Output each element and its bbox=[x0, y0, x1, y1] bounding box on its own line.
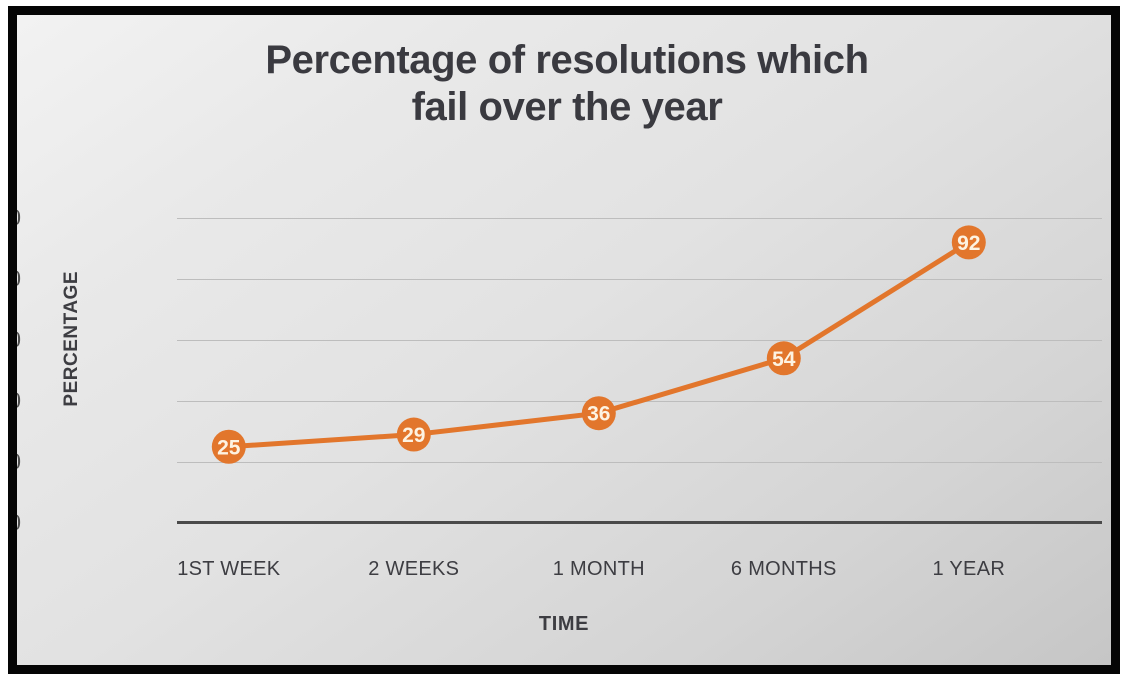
series-line bbox=[229, 242, 969, 446]
x-axis-tick-label: 1ST WEEK bbox=[177, 558, 280, 581]
y-axis-tick-label: 0 bbox=[17, 510, 21, 536]
data-point-label: 36 bbox=[587, 403, 610, 426]
chart-frame: Percentage of resolutions which fail ove… bbox=[8, 6, 1120, 674]
data-point-label: 92 bbox=[957, 232, 980, 255]
chart-canvas: Percentage of resolutions which fail ove… bbox=[17, 15, 1111, 665]
line-series: 2529365492 bbox=[177, 218, 1102, 523]
data-point-marker[interactable] bbox=[397, 418, 431, 452]
x-axis-title: TIME bbox=[17, 613, 1111, 636]
x-axis-tick-label: 1 YEAR bbox=[933, 558, 1006, 581]
data-point-label: 29 bbox=[402, 424, 425, 447]
chart-screenshot: Percentage of resolutions which fail ove… bbox=[0, 0, 1128, 682]
y-axis-tick-label: 100 bbox=[17, 205, 21, 231]
gridline bbox=[177, 279, 1102, 280]
y-axis-tick-label: 60 bbox=[17, 327, 21, 353]
chart-title-line-1: Percentage of resolutions which bbox=[87, 37, 1047, 84]
data-point-marker[interactable] bbox=[212, 430, 246, 464]
data-point-marker[interactable] bbox=[952, 225, 986, 259]
gridline bbox=[177, 462, 1102, 463]
plot-area: 2529365492 bbox=[177, 218, 1102, 523]
x-axis-line bbox=[177, 521, 1102, 524]
data-point-label: 54 bbox=[772, 348, 796, 371]
data-point-label: 25 bbox=[217, 436, 241, 459]
x-axis-tick-label: 1 MONTH bbox=[553, 558, 645, 581]
data-point-marker[interactable] bbox=[767, 341, 801, 375]
x-axis-tick-label: 6 MONTHS bbox=[731, 558, 837, 581]
gridline bbox=[177, 401, 1102, 402]
chart-title-line-2: fail over the year bbox=[87, 84, 1047, 131]
y-axis-title: PERCENTAGE bbox=[61, 271, 83, 407]
y-axis-tick-label: 80 bbox=[17, 266, 21, 292]
gridline bbox=[177, 340, 1102, 341]
chart-title: Percentage of resolutions which fail ove… bbox=[87, 37, 1047, 131]
y-axis-tick-label: 40 bbox=[17, 388, 21, 414]
gridline bbox=[177, 218, 1102, 219]
x-axis-tick-label: 2 WEEKS bbox=[368, 558, 459, 581]
y-axis-tick-label: 20 bbox=[17, 449, 21, 475]
